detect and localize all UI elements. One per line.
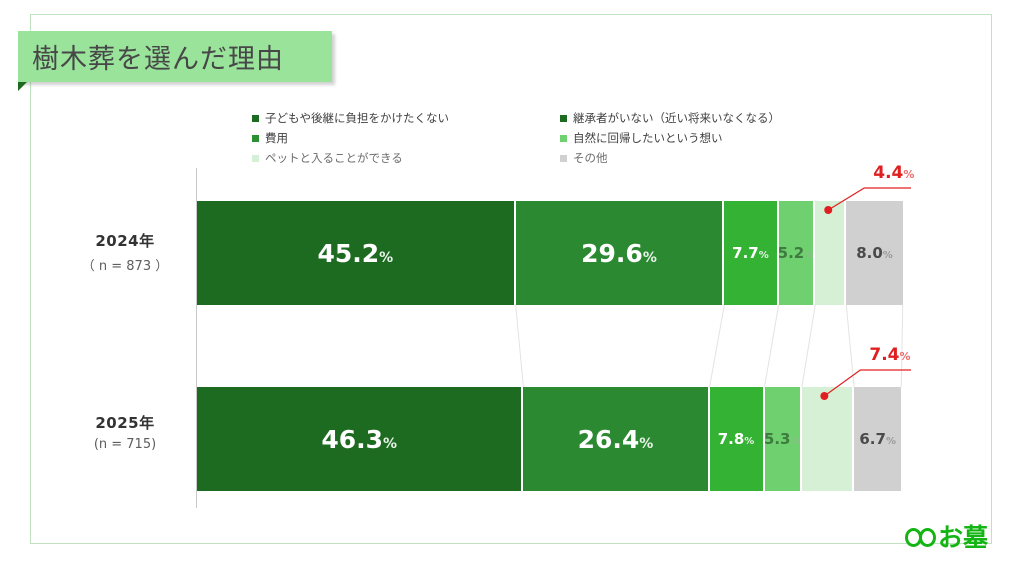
callout-leader-line <box>0 0 1024 576</box>
callout-7.4: 7.4% <box>0 0 1024 576</box>
callout-value-label: 7.4% <box>869 347 910 364</box>
slide: 樹木葬を選んだ理由 子どもや後継に負担をかけたくない費用ペットと入ることができる… <box>0 0 1024 576</box>
callout-anchor-dot <box>820 392 828 400</box>
